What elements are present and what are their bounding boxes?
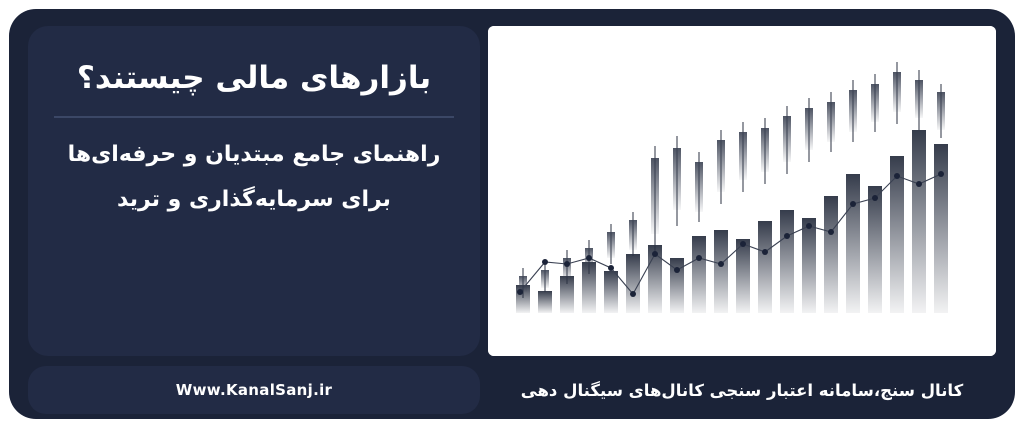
financial-chart <box>488 26 996 356</box>
brand-caption: کانال سنج،سامانه اعتبار سنجی کانال‌های س… <box>488 366 996 414</box>
left-text-panel: بازارهای مالی چیستند؟ راهنمای جامع مبتدی… <box>28 26 480 356</box>
title-divider <box>54 116 454 118</box>
chart-panel <box>488 26 996 356</box>
website-url-bar[interactable]: Www.KanalSanj.ir <box>28 366 480 414</box>
subtitle-line-2: برای سرمایه‌گذاری و ترید <box>50 179 458 222</box>
banner-root: بازارهای مالی چیستند؟ راهنمای جامع مبتدی… <box>0 0 1024 428</box>
page-title: بازارهای مالی چیستند؟ <box>50 58 458 100</box>
subtitle-line-1: راهنمای جامع مبتدیان و حرفه‌ای‌ها <box>50 134 458 177</box>
card-container: بازارهای مالی چیستند؟ راهنمای جامع مبتدی… <box>10 10 1014 418</box>
brand-caption-text: کانال سنج،سامانه اعتبار سنجی کانال‌های س… <box>521 381 963 400</box>
website-url-text: Www.KanalSanj.ir <box>176 381 332 399</box>
